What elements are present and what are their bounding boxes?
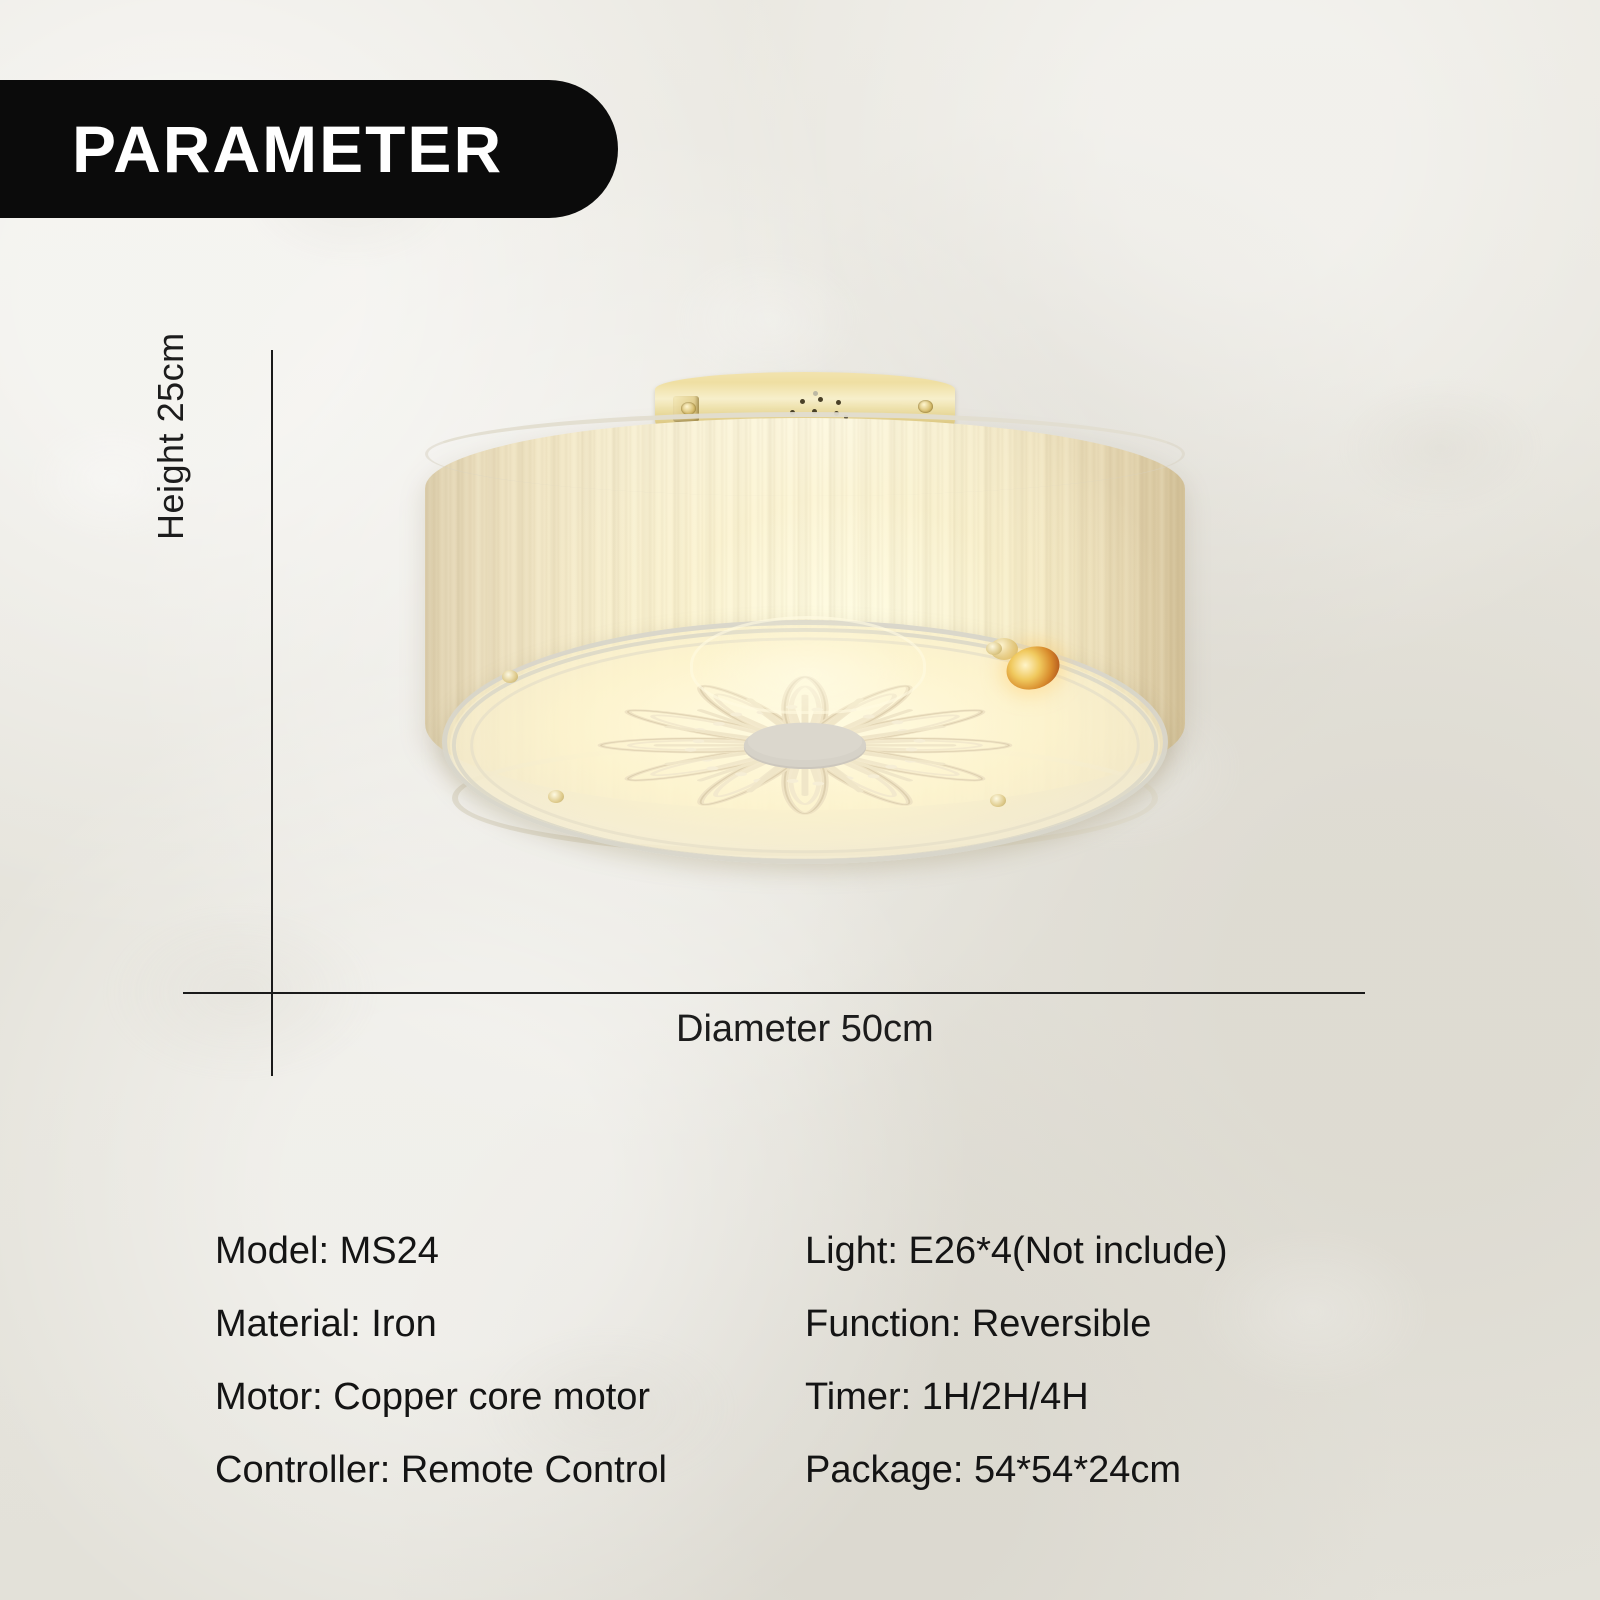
diffuser-screw-lower-left <box>548 790 564 803</box>
spec-package: Package: 54*54*24cm <box>805 1451 1395 1489</box>
spec-column-left: Model: MS24 Material: Iron Motor: Copper… <box>215 1232 805 1524</box>
diameter-dimension-label: Diameter 50cm <box>676 1008 934 1051</box>
parameter-spec-page: PARAMETER Height 25cm Diameter 50cm <box>0 0 1600 1600</box>
height-guide-line <box>271 350 273 1076</box>
spec-motor: Motor: Copper core motor <box>215 1378 805 1416</box>
spec-model: Model: MS24 <box>215 1232 805 1270</box>
diffuser-screw-left <box>502 670 518 683</box>
height-dimension-label: Height 25cm <box>150 220 192 540</box>
spec-function: Function: Reversible <box>805 1305 1395 1343</box>
product-image <box>390 370 1220 870</box>
diffuser-screw-upper-right <box>986 642 1002 655</box>
diameter-guide-line <box>183 992 1365 994</box>
spec-timer: Timer: 1H/2H/4H <box>805 1378 1395 1416</box>
spec-controller: Controller: Remote Control <box>215 1451 805 1489</box>
shade-top-trim <box>425 412 1185 496</box>
spec-light: Light: E26*4(Not include) <box>805 1232 1395 1270</box>
page-title: PARAMETER <box>0 116 503 182</box>
diffuser-screw-lower-right <box>990 794 1006 807</box>
bulb-glass-reflection <box>690 616 926 714</box>
specification-list: Model: MS24 Material: Iron Motor: Copper… <box>215 1232 1395 1524</box>
spec-material: Material: Iron <box>215 1305 805 1343</box>
parameter-header-badge: PARAMETER <box>0 80 618 218</box>
canopy-screw-right <box>918 400 933 413</box>
spec-column-right: Light: E26*4(Not include) Function: Reve… <box>805 1232 1395 1524</box>
